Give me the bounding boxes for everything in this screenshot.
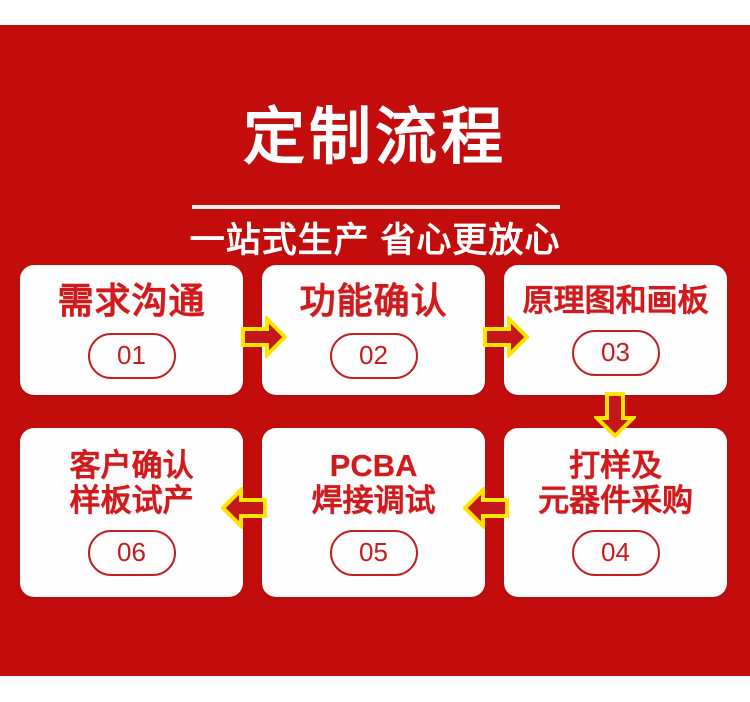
step-card-04[interactable]: 打样及 元器件采购 04: [504, 428, 727, 597]
arrow-right-icon: [241, 316, 287, 358]
step-label: 需求沟通: [57, 281, 205, 321]
step-number-badge: 05: [330, 530, 418, 576]
step-label: 功能确认: [299, 281, 447, 321]
arrow-left-icon: [463, 487, 509, 529]
step-number-badge: 01: [88, 333, 176, 379]
step-card-01[interactable]: 需求沟通 01: [20, 265, 243, 395]
step-label: 打样及 元器件采购: [538, 449, 693, 518]
step-number-badge: 03: [572, 330, 660, 376]
arrow-left-icon: [221, 487, 267, 529]
customization-flow-infographic: 定制流程 一站式生产 省心更放心 需求沟通 01 功能确认 02 原理图和画板 …: [0, 0, 750, 702]
step-card-03[interactable]: 原理图和画板 03: [504, 265, 727, 395]
steps-grid: 需求沟通 01 功能确认 02 原理图和画板 03 客户确认 样板试产 06 P…: [0, 0, 750, 702]
arrow-down-icon: [594, 392, 636, 438]
step-card-06[interactable]: 客户确认 样板试产 06: [20, 428, 243, 597]
step-label: PCBA 焊接调试: [312, 449, 436, 518]
step-label: 原理图和画板: [523, 284, 709, 319]
step-label: 客户确认 样板试产: [70, 449, 194, 518]
arrow-right-icon: [483, 316, 529, 358]
step-number-badge: 02: [330, 333, 418, 379]
step-number-badge: 04: [572, 530, 660, 576]
step-card-02[interactable]: 功能确认 02: [262, 265, 485, 395]
step-card-05[interactable]: PCBA 焊接调试 05: [262, 428, 485, 597]
step-number-badge: 06: [88, 530, 176, 576]
